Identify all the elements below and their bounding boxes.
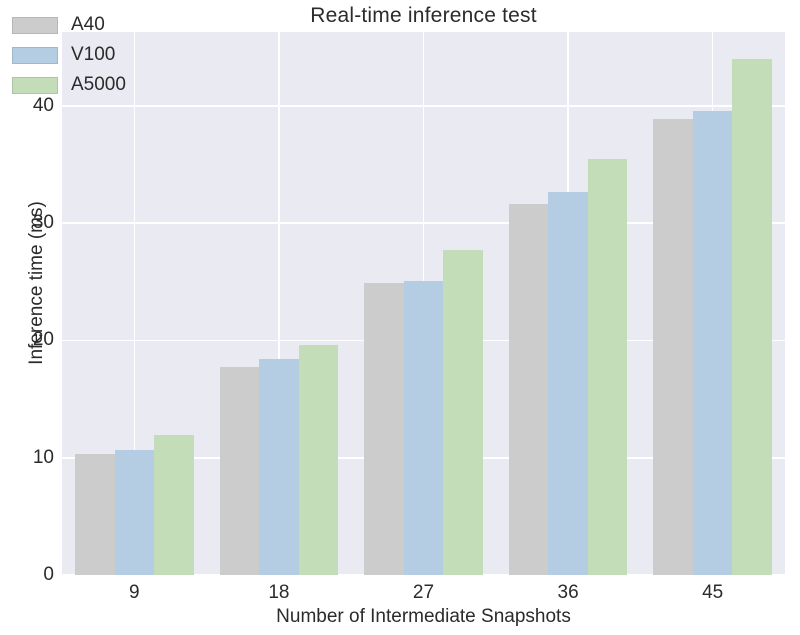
bar-A5000-18 (299, 345, 339, 575)
bar-A40-9 (75, 454, 115, 575)
x-tick-label: 9 (129, 582, 140, 604)
bar-A40-27 (364, 283, 404, 575)
bar-V100-36 (548, 192, 588, 576)
bar-V100-45 (693, 111, 733, 575)
legend-swatch-icon (12, 77, 58, 94)
bar-V100-27 (404, 281, 444, 575)
legend-swatch-icon (12, 17, 58, 34)
plot-area (62, 32, 785, 575)
y-tick-label: 0 (8, 564, 54, 586)
chart-title: Real-time inference test (62, 4, 785, 28)
legend-label: V100 (71, 44, 115, 66)
x-tick-label: 45 (702, 582, 723, 604)
x-axis-label: Number of Intermediate Snapshots (62, 606, 785, 628)
x-tick-label: 27 (413, 582, 434, 604)
chart-figure: Real-time inference test 010203040 91827… (0, 0, 800, 635)
bar-V100-18 (259, 359, 299, 575)
x-tick-label: 18 (268, 582, 289, 604)
legend-item-V100[interactable]: V100 (12, 40, 126, 70)
bar-A5000-36 (588, 159, 628, 575)
y-tick-label: 10 (8, 447, 54, 469)
bar-A5000-9 (154, 435, 194, 575)
bar-V100-9 (115, 450, 155, 575)
legend-item-A40[interactable]: A40 (12, 10, 126, 40)
bar-A40-18 (220, 367, 260, 575)
y-axis-label: Inference time (ms) (26, 133, 48, 433)
bar-A40-45 (653, 119, 693, 575)
chart-legend: A40V100A5000 (12, 6, 126, 104)
legend-label: A40 (71, 14, 105, 36)
legend-item-A5000[interactable]: A5000 (12, 70, 126, 100)
legend-swatch-icon (12, 47, 58, 64)
bar-A40-36 (509, 204, 549, 575)
x-tick-label: 36 (558, 582, 579, 604)
bar-A5000-45 (732, 59, 772, 575)
legend-label: A5000 (71, 74, 126, 96)
bar-A5000-27 (443, 250, 483, 575)
